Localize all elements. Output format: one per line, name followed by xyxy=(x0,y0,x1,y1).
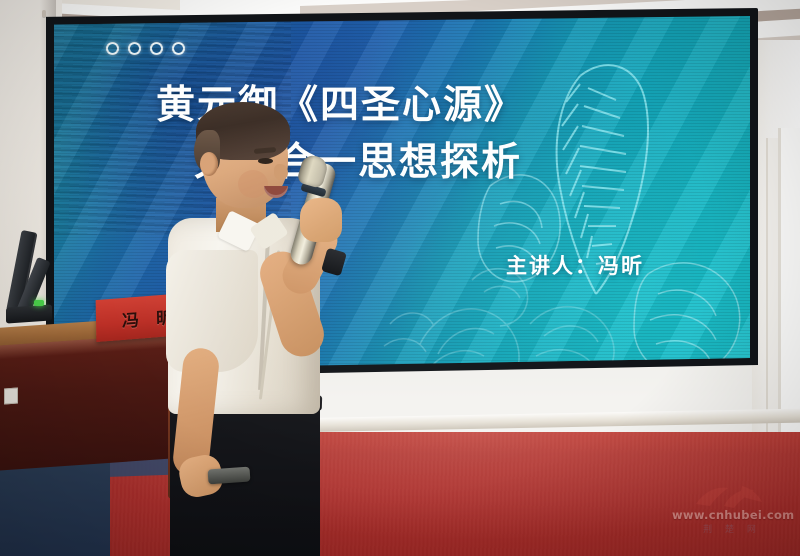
speaker-person xyxy=(150,100,400,556)
slide-presenter: 主讲人：冯昕 xyxy=(506,250,644,280)
watermark-url: www.cnhubei.com xyxy=(672,508,792,522)
podium-microphone-led xyxy=(34,300,44,306)
name-card-char-1: 冯 xyxy=(122,305,140,331)
podium-microphone-base xyxy=(6,304,52,323)
watermark: www.cnhubei.com 荆 楚 网 xyxy=(672,486,792,542)
podium-small-label xyxy=(4,388,18,405)
watermark-logo-icon xyxy=(690,484,768,510)
presentation-clicker xyxy=(208,467,251,485)
screenshot-root: 黄元御《四圣心源》 天人合一思想探析 主讲人：冯昕 冯 昕 xyxy=(0,0,800,556)
wall-nail xyxy=(42,10,46,17)
speaker-nose xyxy=(274,164,288,180)
speaker-hand-holding-microphone xyxy=(300,198,342,242)
watermark-subtitle: 荆 楚 网 xyxy=(672,522,792,535)
speaker-ear xyxy=(200,152,218,176)
speaker-eye xyxy=(258,158,273,164)
speaker-cheek xyxy=(238,170,268,198)
